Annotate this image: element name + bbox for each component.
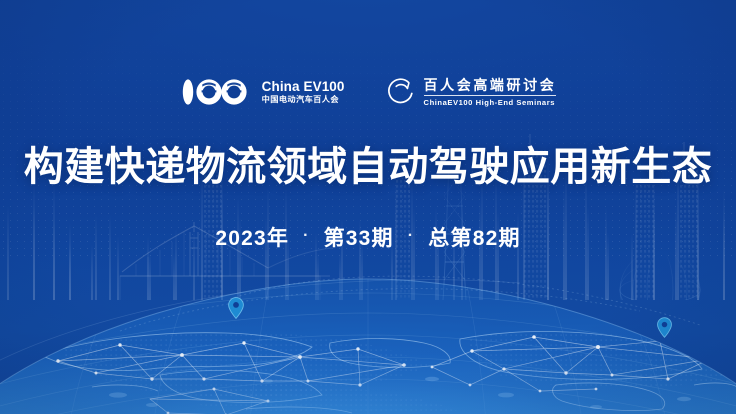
logo-seminar: 百人会高端研讨会 ChinaEV100 High-End Seminars [387,77,557,107]
location-pin-left [227,296,245,320]
vignette-overlay [0,0,736,414]
subtitle-total-issue: 总第82期 [428,222,520,252]
logo-ev100-english: China EV100 [262,80,345,94]
subtitle-line: 2023年 · 第33期 · 总第82期 [0,222,736,252]
subtitle-separator-2: · [408,228,415,244]
logo-ev100-chinese: 中国电动汽车百人会 [262,96,345,104]
china-ev100-100-logo-icon [180,78,254,106]
globe-network-map [0,239,736,414]
subtitle-issue: 第33期 [324,222,394,252]
logo-row: China EV100 中国电动汽车百人会 百人会高端研讨会 ChinaEV10… [0,68,736,116]
logo-seminar-chinese: 百人会高端研讨会 [424,78,557,92]
page-title: 构建快递物流领域自动驾驶应用新生态 [0,146,736,188]
location-pin-right [656,316,673,339]
banner-stage: China EV100 中国电动汽车百人会 百人会高端研讨会 ChinaEV10… [0,0,736,414]
logo-seminar-divider [424,95,557,96]
bottom-glow [0,264,736,414]
logo-seminar-english: ChinaEV100 High-End Seminars [424,99,557,107]
subtitle-year: 2023年 [215,222,289,252]
logo-china-ev100: China EV100 中国电动汽车百人会 [180,78,345,106]
seminar-arc-logo-icon [387,77,417,107]
subtitle-separator-1: · [303,228,310,244]
